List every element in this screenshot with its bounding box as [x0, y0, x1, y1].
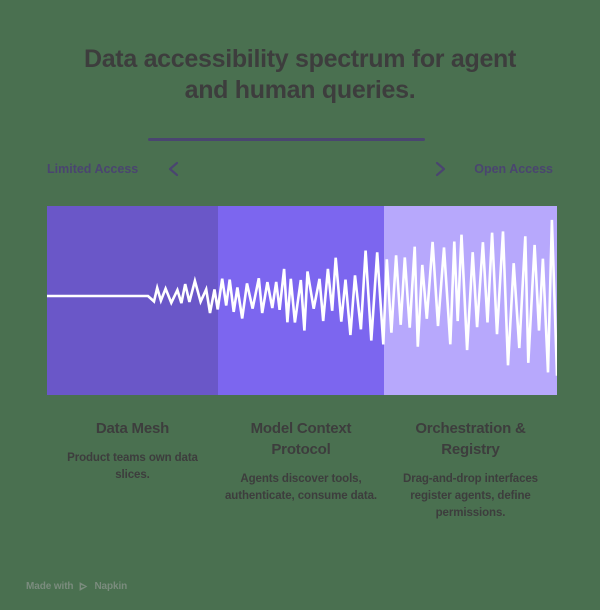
chevron-right-icon — [432, 158, 448, 180]
column-title: Model Context Protocol — [224, 418, 378, 460]
page-title: Data accessibility spectrum for agent an… — [0, 44, 600, 106]
watermark-made-with-label: Made with — [26, 581, 73, 592]
column-model-context-protocol: Model Context Protocol Agents discover t… — [218, 418, 384, 522]
infographic-canvas: Data accessibility spectrum for agent an… — [0, 0, 600, 610]
column-orchestration-registry: Orchestration & Registry Drag-and-drop i… — [384, 418, 557, 522]
column-data-mesh: Data Mesh Product teams own data slices. — [47, 418, 218, 522]
spectrum-left-label: Limited Access — [47, 158, 138, 180]
column-description: Agents discover tools, authenticate, con… — [224, 471, 378, 505]
napkin-play-logo-icon — [78, 581, 89, 592]
chevron-left-icon — [166, 158, 182, 180]
column-group: Data Mesh Product teams own data slices.… — [47, 418, 557, 522]
watermark-brand-label: Napkin — [94, 581, 127, 592]
column-title: Orchestration & Registry — [390, 418, 551, 460]
column-description: Drag-and-drop interfaces register agents… — [390, 471, 551, 522]
spectrum-band-strip — [47, 206, 557, 395]
spectrum-band-1 — [47, 206, 218, 395]
column-title: Data Mesh — [53, 418, 212, 439]
spectrum-band-3 — [384, 206, 557, 395]
column-description: Product teams own data slices. — [53, 450, 212, 484]
spectrum-axis: Limited Access Open Access — [0, 158, 600, 180]
napkin-watermark: Made with Napkin — [26, 581, 127, 592]
spectrum-rule — [148, 138, 425, 141]
spectrum-band-2 — [218, 206, 384, 395]
spectrum-right-label: Open Access — [474, 158, 553, 180]
